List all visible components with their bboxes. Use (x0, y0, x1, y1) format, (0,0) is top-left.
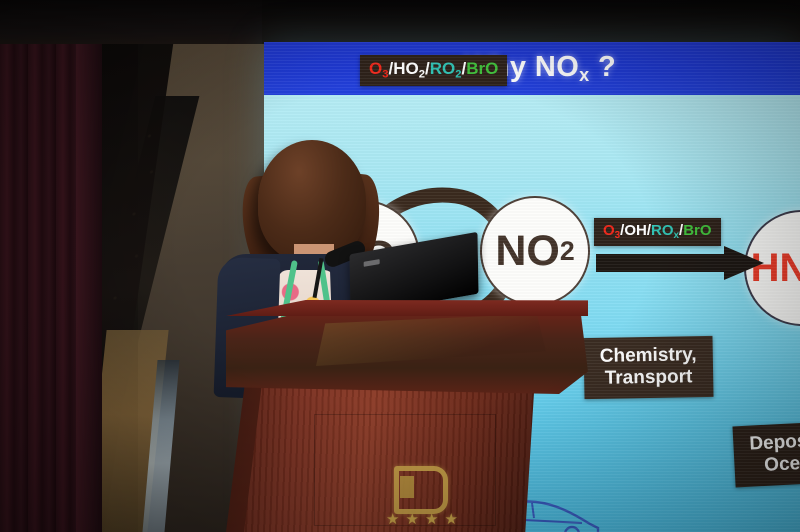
label-cycle-oxidants: O3/HO2/RO2/BrO (360, 55, 507, 86)
star-2: ★ (406, 512, 419, 528)
laptop-logo (364, 259, 380, 267)
stage-curtain-edge (76, 0, 102, 532)
species-o3-2: O3 (603, 222, 620, 239)
podium: ★ ★ ★ ★ (226, 300, 588, 532)
star-1: ★ (386, 512, 399, 528)
molecule-no2-label: NO (495, 227, 560, 276)
podium-logo-bar (400, 476, 414, 498)
species-ro2: RO2 (430, 59, 462, 78)
molecule-no2: NO2 (480, 196, 590, 306)
podium-star-rating: ★ ★ ★ ★ (386, 512, 458, 528)
label-chemistry-transport: Chemistry, Transport (583, 336, 713, 399)
presentation-photo: Why NOx ? NO NO2 HNO3 O3/HO2/RO2/BrO O3/… (0, 0, 800, 532)
species-bro-2: BrO (683, 222, 711, 239)
chemistry-transport-line2: Transport (600, 367, 697, 391)
molecule-no2-sub: 2 (560, 236, 575, 267)
star-4: ★ (445, 512, 458, 528)
deposition-line2: Oce (750, 453, 800, 479)
slide-title-banner: Why NOx ? (264, 42, 800, 95)
straight-arrow-icon (596, 246, 766, 280)
star-3: ★ (425, 512, 438, 528)
label-deposition-ocean: Deposi Oce (732, 422, 800, 488)
stage-curtain (0, 0, 86, 532)
species-bro: BrO (466, 59, 498, 78)
chemistry-transport-line1: Chemistry, (600, 344, 697, 368)
species-ho2: HO2 (393, 59, 425, 78)
slide-title-subscript: x (579, 65, 589, 85)
species-o3: O3 (369, 59, 388, 78)
slash-2: / (425, 59, 430, 78)
species-oh: OH (624, 222, 647, 239)
podium-top-edge (226, 300, 588, 316)
species-rox: ROx (651, 222, 679, 239)
slide-title-tail: ? (590, 51, 617, 83)
deposition-line1: Deposi (749, 430, 800, 456)
ceiling-right (262, 0, 800, 44)
label-oxidation-to-hno3: O3/OH/ROx/BrO (594, 218, 721, 246)
